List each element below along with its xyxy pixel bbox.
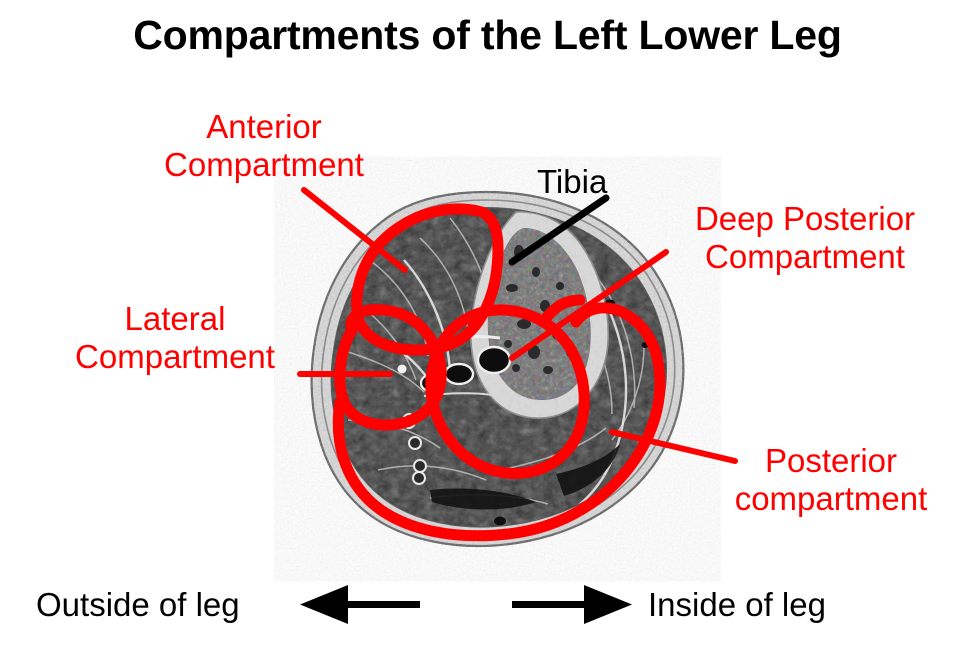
orientation-label-inside: Inside of leg [648, 586, 826, 624]
label-posterior-line1: Posterior [700, 442, 962, 480]
subcutaneous-veins [494, 300, 649, 526]
tibia-bone [471, 212, 608, 418]
left-arrow-outside [300, 585, 420, 624]
orientation-label-outside: Outside of leg [36, 586, 240, 624]
anterior-compartment-outline [357, 209, 498, 350]
orientation-arrows [300, 585, 632, 624]
label-posterior-line2: compartment [700, 480, 962, 518]
label-tibia: Tibia [537, 163, 647, 201]
label-anterior-line1: Anterior [128, 108, 400, 146]
label-lateral-line1: Lateral [44, 300, 306, 338]
deep-posterior-compartment-outline [431, 310, 584, 474]
lateral-vessel [398, 365, 407, 374]
label-anterior-compartment: Anterior Compartment [128, 108, 400, 183]
figure-canvas: Compartments of the Left Lower Leg [0, 0, 975, 646]
posterior-vessels [403, 414, 426, 484]
page-title: Compartments of the Left Lower Leg [0, 12, 975, 59]
deep-fascia-line [332, 208, 666, 527]
label-deep-posterior-line1: Deep Posterior [655, 200, 955, 238]
posterior-compartment-outline [338, 308, 660, 536]
skin-subcutaneous-ring [312, 192, 684, 546]
label-tibia-text: Tibia [537, 163, 647, 201]
label-anterior-line2: Compartment [128, 146, 400, 184]
label-posterior-compartment: Posterior compartment [700, 442, 962, 517]
label-deep-posterior-line2: Compartment [655, 238, 955, 276]
leader-line-deep-posterior [512, 252, 666, 358]
label-lateral-compartment: Lateral Compartment [44, 300, 306, 375]
leader-line-tibia [512, 198, 606, 262]
lateral-compartment-outline [340, 310, 441, 425]
right-arrow-inside [512, 585, 632, 624]
neurovascular-bundle [420, 337, 510, 399]
deep-posterior-neck [546, 300, 580, 318]
label-deep-posterior-compartment: Deep Posterior Compartment [655, 200, 955, 275]
label-lateral-line2: Compartment [44, 338, 306, 376]
leader-line-anterior [304, 190, 405, 270]
